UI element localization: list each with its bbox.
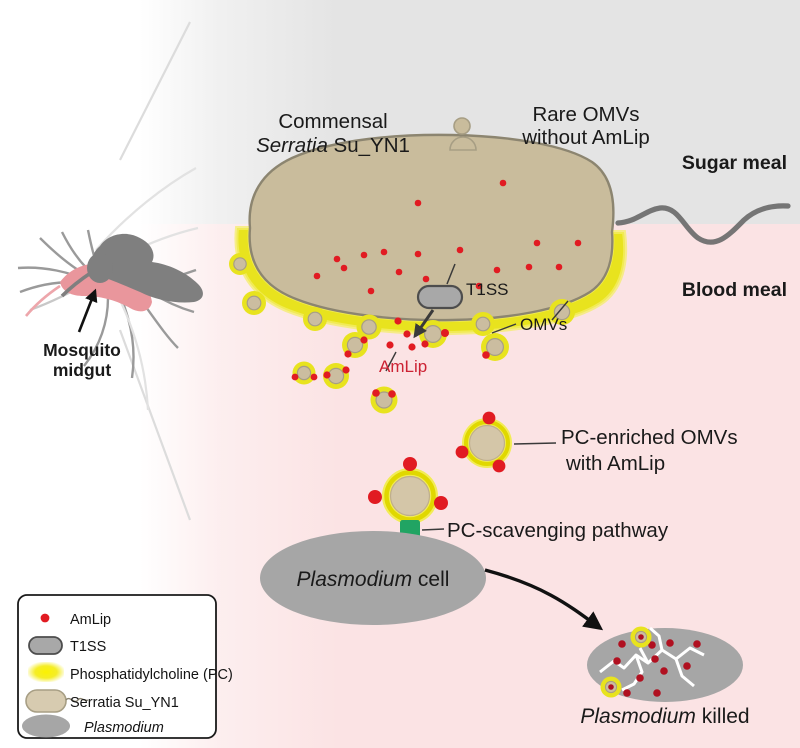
- omv-bud: [229, 253, 251, 275]
- legend-grey-ellipse-icon: [22, 715, 70, 738]
- plasmodium-killed-species: Plasmodium: [580, 705, 696, 728]
- leader-pc-enriched: [514, 443, 556, 444]
- legend-label-serratia: Serratia Su_YN1: [70, 695, 179, 711]
- killed-omv-remnant: [601, 677, 622, 698]
- legend-yellow-patch-icon: [28, 662, 64, 682]
- sugar-meal-label: Sugar meal: [682, 152, 787, 174]
- commensal-species-name: Serratia: [256, 134, 328, 157]
- legend-red-dot-icon: [41, 614, 50, 623]
- legend-label-pc: Phosphatidylcholine (PC): [70, 667, 233, 683]
- rare-omvs-label-line2: without AmLip: [521, 126, 650, 149]
- commensal-label-line2: Serratia Su_YN1: [256, 134, 410, 157]
- legend-label-plasmodium: Plasmodium: [84, 720, 164, 736]
- blood-meal-label: Blood meal: [682, 279, 787, 301]
- mosquito-midgut-tail: [26, 286, 60, 316]
- figure-canvas: Mosquito midgut: [0, 0, 800, 748]
- commensal-label-line1: Commensal: [278, 110, 387, 133]
- omv-small: [371, 387, 398, 414]
- rare-omvs-label-line1: Rare OMVs: [532, 103, 639, 126]
- legend-label-amlip: AmLip: [70, 612, 111, 628]
- mosquito-midgut-label-line1: Mosquito: [43, 340, 121, 360]
- rare-omv-free: [454, 118, 470, 134]
- plasmodium-cell-species: Plasmodium: [297, 568, 413, 591]
- omv-bud: [303, 307, 327, 331]
- pc-enriched-label-line2: with AmLip: [565, 452, 665, 475]
- omv-bud: [242, 291, 266, 315]
- plasmodium-killed-rest: killed: [696, 705, 750, 728]
- t1ss-label: T1SS: [466, 280, 509, 299]
- omv-small: [481, 333, 509, 361]
- pc-enriched-label-line1: PC-enriched OMVs: [561, 426, 738, 449]
- legend-box: AmLip T1SS Phosphatidylcholine (PC) Serr…: [18, 595, 233, 738]
- leader-pc-scavenging: [422, 529, 444, 530]
- omv-bud: [471, 312, 495, 336]
- plasmodium-cell-label: Plasmodium cell: [297, 568, 450, 591]
- killed-omv-remnant: [631, 627, 652, 648]
- commensal-strain-name: Su_YN1: [328, 134, 410, 157]
- pc-scavenging-label: PC-scavenging pathway: [447, 519, 669, 542]
- amlip-label: AmLip: [379, 357, 427, 376]
- midgut-pointer-arrow: [79, 291, 95, 332]
- plasmodium-killed-label: Plasmodium killed: [580, 705, 749, 728]
- omvs-label: OMVs: [520, 315, 567, 334]
- legend-grey-capsule-icon: [29, 637, 62, 654]
- omv-small: [342, 332, 368, 358]
- mosquito-midgut-label-line2: midgut: [53, 360, 111, 380]
- plasmodium-cell-rest: cell: [412, 568, 449, 591]
- legend-label-t1ss: T1SS: [70, 639, 106, 655]
